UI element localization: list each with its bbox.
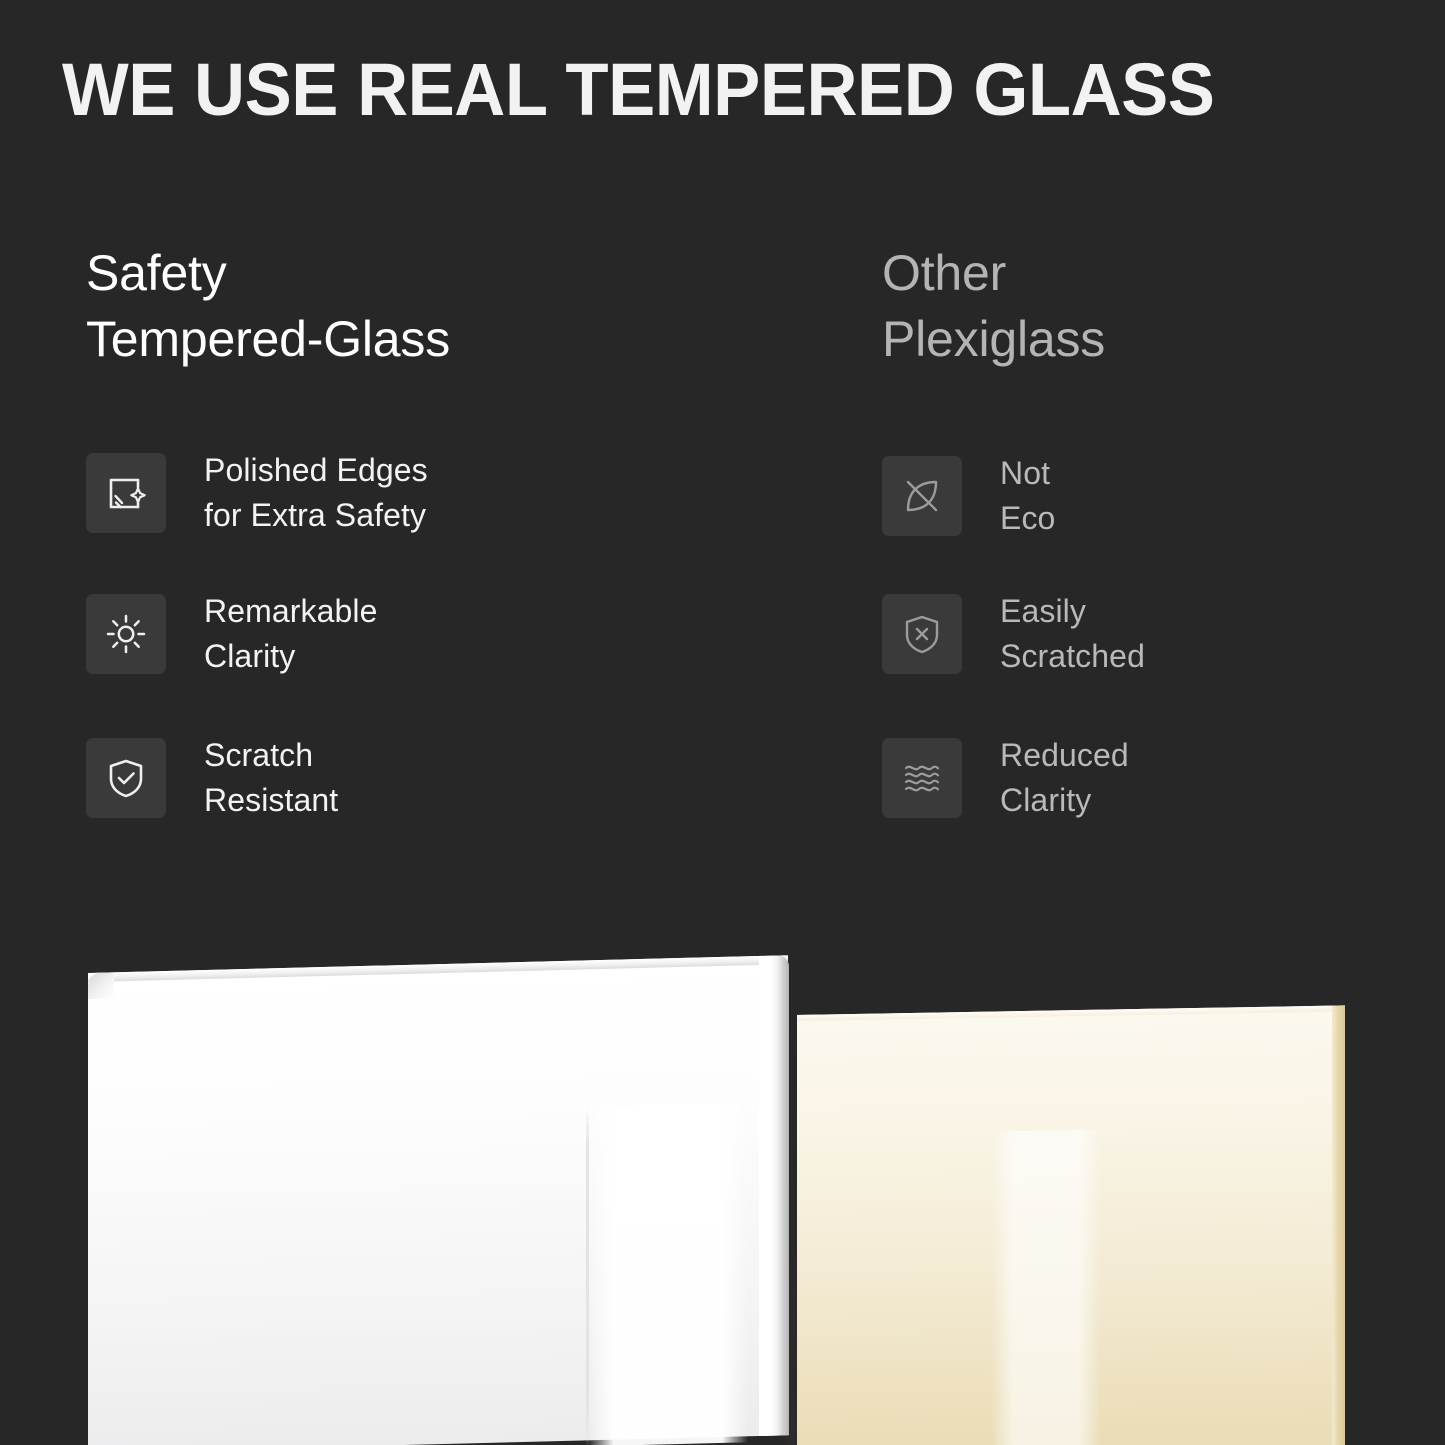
feature-reduced-clarity: Reduced Clarity: [882, 733, 1129, 823]
wavy-lines-icon: [898, 754, 946, 802]
feature-label-line1: Remarkable: [204, 593, 378, 629]
glass-reflection: [588, 1102, 748, 1445]
tempered-glass-panel: [88, 955, 788, 1445]
icon-tile: [882, 738, 962, 818]
feature-label: Not Eco: [1000, 451, 1055, 541]
sun-brightness-icon: [102, 610, 150, 658]
product-photo: [0, 845, 1445, 1445]
feature-label-line1: Not: [1000, 455, 1050, 491]
plexiglass-reflection: [991, 1130, 1101, 1445]
feature-label: Remarkable Clarity: [204, 589, 378, 679]
feature-label-line2: Clarity: [204, 634, 378, 679]
icon-tile: [882, 456, 962, 536]
feature-label-line1: Reduced: [1000, 737, 1129, 773]
column-heading-line1: Other: [882, 245, 1006, 301]
plexiglass-right-edge: [1332, 1005, 1345, 1445]
icon-tile: [882, 594, 962, 674]
feature-label: Reduced Clarity: [1000, 733, 1129, 823]
polished-pane-sparkle-icon: [102, 469, 150, 517]
column-heading-line2: Tempered-Glass: [86, 306, 450, 372]
feature-label-line2: Scratched: [1000, 634, 1145, 679]
column-heading-line1: Safety: [86, 245, 227, 301]
feature-remarkable-clarity: Remarkable Clarity: [86, 589, 378, 679]
column-heading-line2: Plexiglass: [882, 306, 1105, 372]
icon-tile: [86, 738, 166, 818]
feature-label-line2: Clarity: [1000, 778, 1129, 823]
feature-easily-scratched: Easily Scratched: [882, 589, 1145, 679]
feature-polished-edges: Polished Edges for Extra Safety: [86, 448, 428, 538]
feature-label: Easily Scratched: [1000, 589, 1145, 679]
plexiglass-panel: [795, 1005, 1345, 1445]
feature-label-line1: Easily: [1000, 593, 1086, 629]
feature-not-eco: Not Eco: [882, 451, 1055, 541]
feature-label-line1: Polished Edges: [204, 452, 428, 488]
column-heading-tempered-glass: Safety Tempered-Glass: [86, 240, 450, 372]
leaf-crossed-out-icon: [898, 472, 946, 520]
promo-graphic: WE USE REAL TEMPERED GLASS Safety Temper…: [0, 0, 1445, 1445]
icon-tile: [86, 453, 166, 533]
feature-label: Polished Edges for Extra Safety: [204, 448, 428, 538]
feature-label-line1: Scratch: [204, 737, 313, 773]
feature-label-line2: for Extra Safety: [204, 493, 428, 538]
icon-tile: [86, 594, 166, 674]
glass-rounded-corner: [88, 972, 114, 999]
shield-check-icon: [102, 754, 150, 802]
column-heading-plexiglass: Other Plexiglass: [882, 240, 1105, 372]
feature-label: Scratch Resistant: [204, 733, 338, 823]
shield-x-icon: [898, 610, 946, 658]
page-title: WE USE REAL TEMPERED GLASS: [62, 42, 1332, 138]
feature-label-line2: Eco: [1000, 496, 1055, 541]
glass-polished-top-edge: [88, 955, 788, 982]
glass-polished-bevel-edge: [759, 955, 789, 1436]
plexiglass-top-edge: [795, 1005, 1345, 1021]
feature-scratch-resistant: Scratch Resistant: [86, 733, 338, 823]
feature-label-line2: Resistant: [204, 778, 338, 823]
